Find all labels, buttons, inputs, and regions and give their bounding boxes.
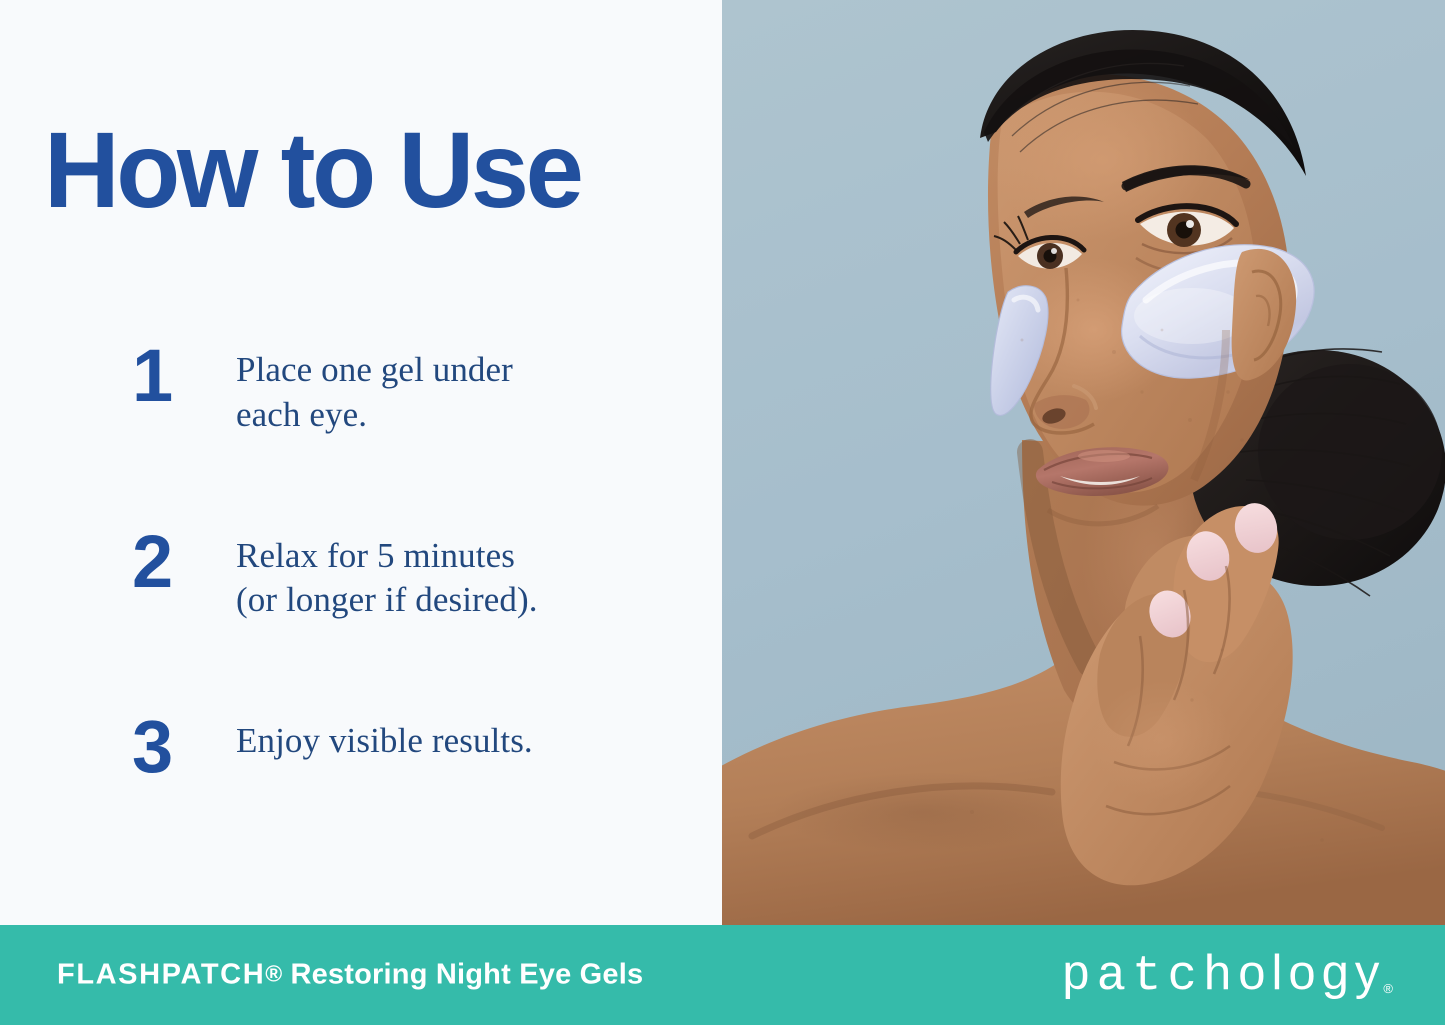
step-text-line1: Place one gel under bbox=[236, 350, 513, 389]
logo-registered-icon: ® bbox=[1383, 981, 1393, 996]
list-item: 3 Enjoy visible results. bbox=[132, 711, 692, 782]
step-number: 2 bbox=[132, 526, 236, 597]
step-text: Place one gel under each eye. bbox=[236, 340, 692, 438]
product-name: FLASHPATCH® Restoring Night Eye Gels bbox=[57, 959, 643, 992]
registered-trademark-icon: ® bbox=[265, 961, 282, 987]
step-text: Relax for 5 minutes (or longer if desire… bbox=[236, 526, 692, 624]
list-item: 2 Relax for 5 minutes (or longer if desi… bbox=[132, 526, 692, 624]
step-text-line2: each eye. bbox=[236, 393, 692, 438]
footer-bar: FLASHPATCH® Restoring Night Eye Gels pat… bbox=[0, 925, 1445, 1025]
product-brand: FLASHPATCH bbox=[57, 959, 265, 991]
product-descriptor: Restoring Night Eye Gels bbox=[282, 959, 643, 991]
step-text-line1: Relax for 5 minutes bbox=[236, 536, 515, 575]
step-text-line2: (or longer if desired). bbox=[236, 578, 692, 623]
how-to-use-poster: How to Use 1 Place one gel under each ey… bbox=[0, 0, 1445, 1025]
model-photo bbox=[722, 0, 1445, 925]
step-number: 1 bbox=[132, 340, 236, 411]
list-item: 1 Place one gel under each eye. bbox=[132, 340, 692, 438]
step-text: Enjoy visible results. bbox=[236, 711, 692, 764]
patchology-logo[interactable]: patchology® bbox=[1061, 949, 1393, 1001]
step-text-line1: Enjoy visible results. bbox=[236, 721, 533, 760]
page-title: How to Use bbox=[44, 116, 580, 224]
steps-list: 1 Place one gel under each eye. 2 Relax … bbox=[132, 340, 692, 782]
logo-text-patch: patch bbox=[1061, 948, 1238, 1004]
instructions-panel: How to Use 1 Place one gel under each ey… bbox=[0, 0, 722, 925]
step-number: 3 bbox=[132, 711, 236, 782]
model-photo-illustration bbox=[722, 0, 1445, 925]
logo-text-ology: ology bbox=[1238, 946, 1385, 1000]
